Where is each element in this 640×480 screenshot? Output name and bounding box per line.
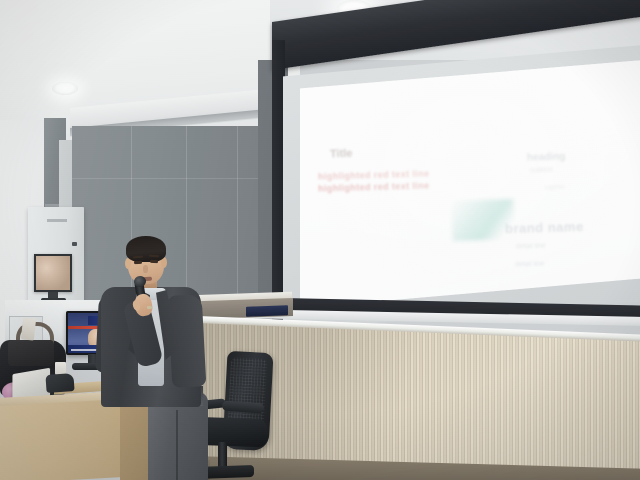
projection-screen-surface xyxy=(300,60,640,308)
podium-black-item xyxy=(45,373,74,393)
handbag-body[interactable] xyxy=(8,340,54,366)
ceiling-downlight-icon xyxy=(52,82,78,95)
presenter-ring xyxy=(147,306,152,309)
presenter-hair xyxy=(126,236,166,262)
scene-root: Title highlighted red text line highligh… xyxy=(0,0,640,480)
appliance-button[interactable] xyxy=(72,242,77,246)
framed-picture xyxy=(34,254,72,292)
presenter-eye-left xyxy=(134,261,142,265)
panel-seam-horizontal xyxy=(72,178,284,179)
presenter-leg-seam xyxy=(176,410,178,480)
back-counter-dark-object xyxy=(246,305,288,316)
handbag-tag xyxy=(21,317,36,340)
appliance-brand-label xyxy=(47,219,67,222)
presenter-nose xyxy=(143,265,148,273)
framed-picture-image xyxy=(36,256,70,290)
presenter-eye-right xyxy=(150,260,158,263)
